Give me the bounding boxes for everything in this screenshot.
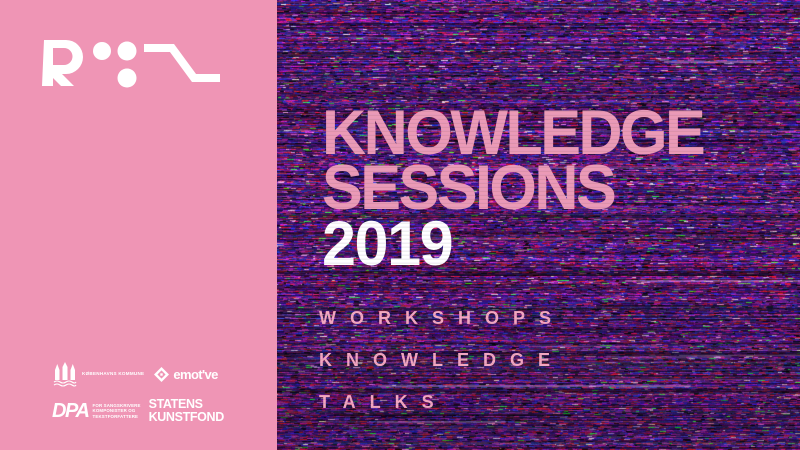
dpa-line-1: FOR SANGSKRIVERE xyxy=(93,403,141,408)
subhead-talks: TALKS xyxy=(319,382,565,424)
three-towers-emblem-icon xyxy=(52,361,78,387)
subhead-block: WORKSHOPS KNOWLEDGE TALKS xyxy=(319,298,565,424)
sponsor-label-emotive: emot've xyxy=(173,368,217,381)
logo-dot-1-icon xyxy=(93,42,111,60)
emotive-diamond-icon xyxy=(154,367,169,382)
sponsor-label-dpa: FOR SANGSKRIVERE KOMPONISTER OG TEKSTFOR… xyxy=(93,403,141,420)
sponsor-emotive: emot've xyxy=(154,367,217,382)
poster-canvas: KNOWLEDGE SESSIONS 2019 WORKSHOPS KNOWLE… xyxy=(0,0,800,450)
glitch-artwork-panel: KNOWLEDGE SESSIONS 2019 WORKSHOPS KNOWLE… xyxy=(277,0,800,450)
logo-step-line-icon xyxy=(148,48,218,78)
logo-dot-3-icon xyxy=(118,69,137,88)
subhead-workshops: WORKSHOPS xyxy=(319,298,565,340)
logo-letter-r-icon xyxy=(42,40,83,86)
sponsor-label-kobenhavns-kommune: KØBENHAVNS KOMMUNE xyxy=(82,372,144,377)
sponsor-logos: KØBENHAVNS KOMMUNE emot've DPA FOR SANGS… xyxy=(52,358,257,430)
statens-line-2: KUNSTFOND xyxy=(149,410,224,424)
title-year-2019: 2019 xyxy=(322,217,703,272)
sponsor-statens-kunstfond: STATENS KUNSTFOND xyxy=(149,398,224,424)
sponsor-row-bottom: DPA FOR SANGSKRIVERE KOMPONISTER OG TEKS… xyxy=(52,392,257,430)
sponsor-dpa: DPA FOR SANGSKRIVERE KOMPONISTER OG TEKS… xyxy=(52,401,141,421)
dpa-line-2: KOMPONISTER OG xyxy=(93,408,136,413)
sponsor-kobenhavns-kommune: KØBENHAVNS KOMMUNE xyxy=(52,361,144,387)
sponsor-row-top: KØBENHAVNS KOMMUNE emot've xyxy=(52,358,257,390)
sponsor-mark-dpa: DPA xyxy=(52,401,89,421)
subhead-knowledge: KNOWLEDGE xyxy=(319,340,565,382)
headline-block: KNOWLEDGE SESSIONS 2019 xyxy=(322,106,715,272)
dpa-line-3: TEKSTFORFATTERE xyxy=(93,414,139,419)
logo-dot-2-icon xyxy=(118,42,137,61)
left-pink-panel: KØBENHAVNS KOMMUNE emot've DPA FOR SANGS… xyxy=(0,0,277,450)
sponsor-label-statens-kunstfond: STATENS KUNSTFOND xyxy=(149,398,224,424)
brand-logo xyxy=(40,32,220,94)
